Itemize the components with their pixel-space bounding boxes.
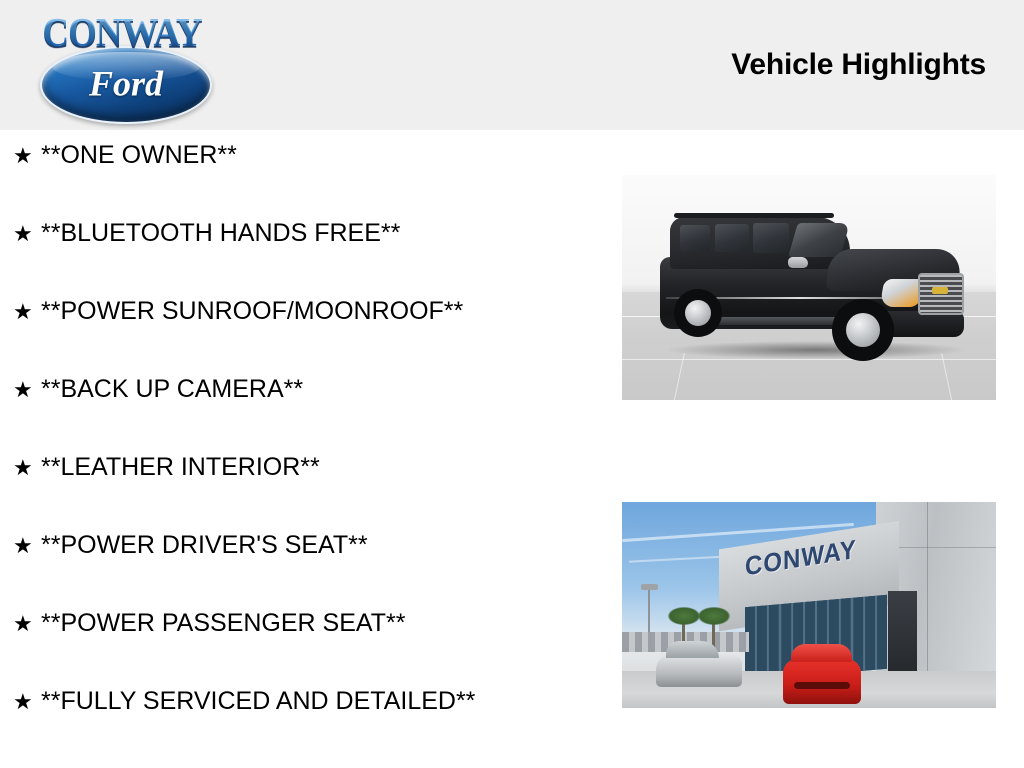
list-item-label: **POWER DRIVER'S SEAT**: [41, 533, 368, 558]
list-item-label: **ONE OWNER**: [41, 143, 237, 168]
rear-quarter-window: [680, 225, 710, 251]
star-icon: ★: [13, 691, 41, 713]
rear-door-window: [715, 224, 749, 252]
star-icon: ★: [13, 223, 41, 245]
star-icon: ★: [13, 379, 41, 401]
rear-wheel: [674, 289, 722, 337]
list-item: ★ **POWER PASSENGER SEAT**: [0, 611, 620, 689]
dealer-logo[interactable]: CONWAY CONWAY Ford: [22, 10, 222, 120]
front-grille: [918, 273, 964, 315]
list-item-label: **BLUETOOTH HANDS FREE**: [41, 221, 400, 246]
list-item: ★ **LEATHER INTERIOR**: [0, 455, 620, 533]
dealer-wordmark: CONWAY: [22, 10, 222, 62]
vehicle-highlights-list: ★ **ONE OWNER** ★ **BLUETOOTH HANDS FREE…: [0, 143, 620, 767]
vehicle-shadow: [668, 341, 964, 359]
star-icon: ★: [13, 301, 41, 323]
front-door-window: [753, 223, 789, 253]
list-item: ★ **BACK UP CAMERA**: [0, 377, 620, 455]
list-item-label: **POWER PASSENGER SEAT**: [41, 611, 405, 636]
showroom-entry: [888, 591, 918, 682]
page-title: Vehicle Highlights: [731, 48, 986, 82]
roof-rail: [674, 213, 834, 218]
list-item-label: **LEATHER INTERIOR**: [41, 455, 320, 480]
list-item: ★ **POWER SUNROOF/MOONROOF**: [0, 299, 620, 377]
front-wheel: [832, 299, 894, 361]
star-icon: ★: [13, 457, 41, 479]
red-car: [783, 659, 862, 704]
list-item-label: **FULLY SERVICED AND DETAILED**: [41, 689, 475, 714]
bowtie-emblem-icon: [932, 287, 948, 294]
vehicle-photo[interactable]: [622, 175, 996, 400]
star-icon: ★: [13, 535, 41, 557]
list-item-label: **POWER SUNROOF/MOONROOF**: [41, 299, 463, 324]
star-icon: ★: [13, 145, 41, 167]
dealership-photo[interactable]: CONWAY: [622, 502, 996, 708]
page-header: CONWAY CONWAY Ford Vehicle Highlights: [0, 0, 1024, 130]
list-item: ★ **BLUETOOTH HANDS FREE**: [0, 221, 620, 299]
list-item: ★ **POWER DRIVER'S SEAT**: [0, 533, 620, 611]
silver-sedan: [656, 654, 742, 687]
list-item-label: **BACK UP CAMERA**: [41, 377, 303, 402]
list-item: ★ **FULLY SERVICED AND DETAILED**: [0, 689, 620, 767]
star-icon: ★: [13, 613, 41, 635]
side-mirror: [788, 257, 808, 268]
suv-illustration: [660, 201, 966, 361]
ford-script-text: Ford: [42, 62, 210, 104]
list-item: ★ **ONE OWNER**: [0, 143, 620, 221]
